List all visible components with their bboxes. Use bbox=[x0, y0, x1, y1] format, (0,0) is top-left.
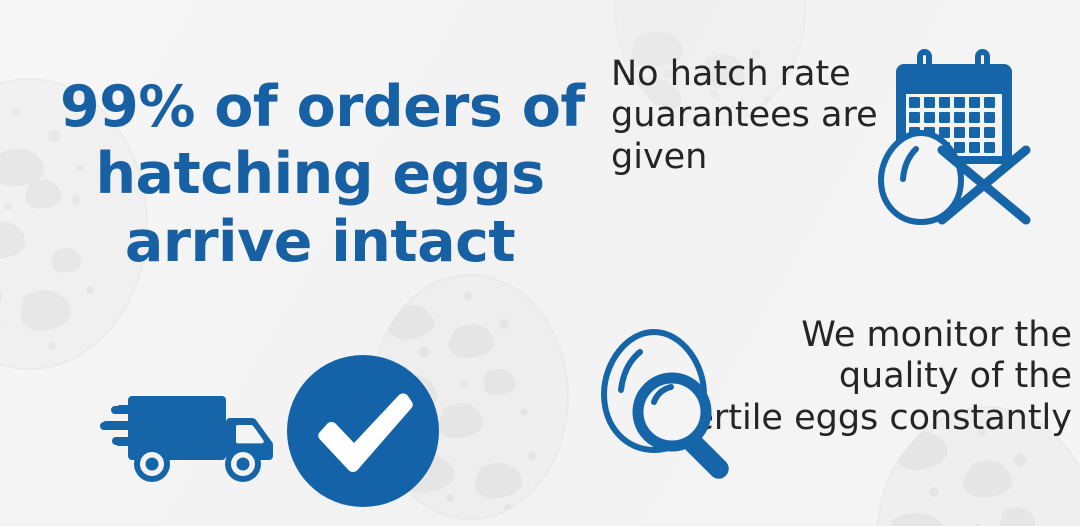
check-circle-icon bbox=[284, 352, 442, 510]
headline-line-2: hatching eggs bbox=[60, 141, 580, 208]
delivery-truck-icon bbox=[98, 382, 280, 486]
headline-line-1: 99% of orders of bbox=[60, 74, 580, 141]
page-title: 99% of orders of hatching eggs arrive in… bbox=[60, 74, 580, 276]
calendar-egg-cross-icon bbox=[874, 48, 1034, 240]
magnifier-lens-glyph bbox=[638, 378, 706, 446]
headline-line-3: arrive intact bbox=[60, 209, 580, 276]
infographic-slide: 99% of orders of hatching eggs arrive in… bbox=[0, 0, 1080, 526]
egg-magnifier-icon bbox=[592, 322, 742, 490]
